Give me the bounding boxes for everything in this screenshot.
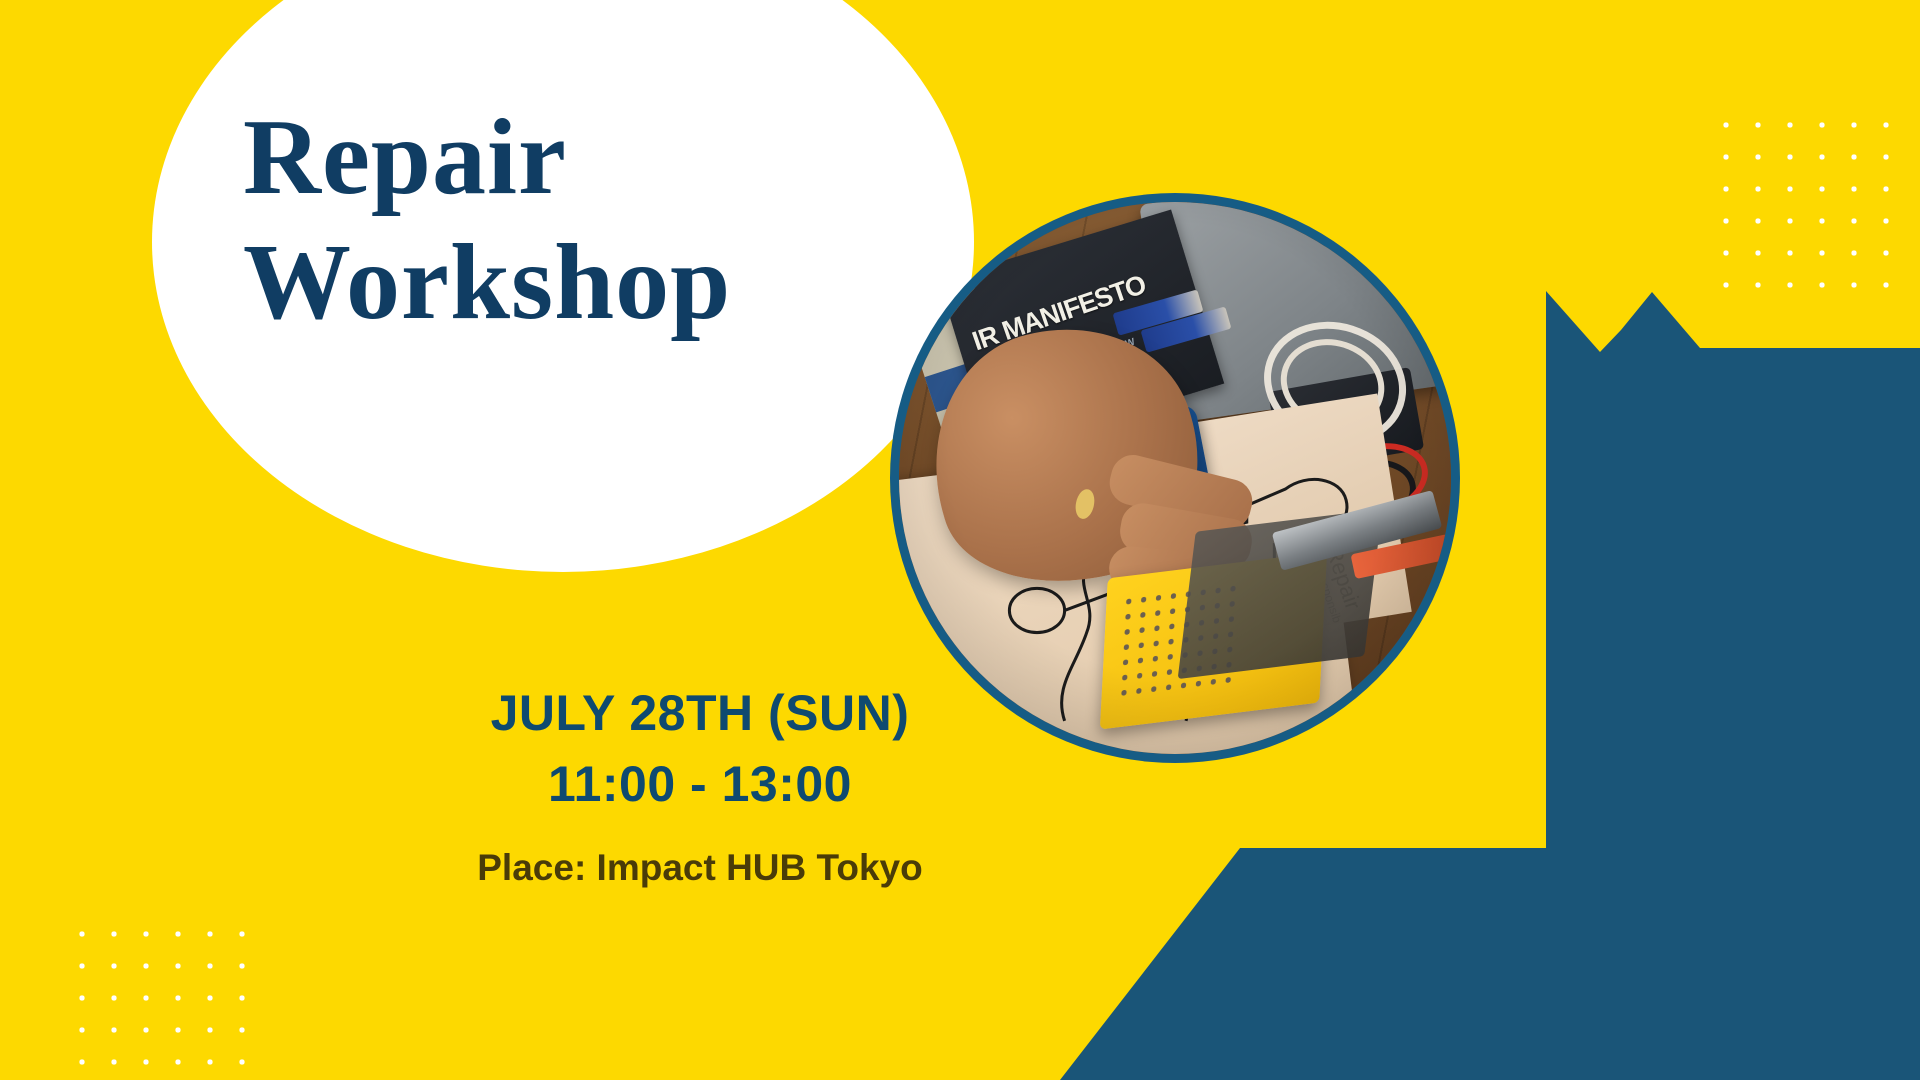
page-title: Repair Workshop — [243, 95, 943, 346]
title-line-1: Repair — [243, 95, 943, 220]
workshop-photo: IR MANIFESTO FIX IT BETTER THAN NEW Repa… — [899, 202, 1451, 754]
event-time: 11:00 - 13:00 — [400, 749, 1000, 820]
event-date: JULY 28TH (SUN) — [400, 678, 1000, 749]
title-line-2: Workshop — [243, 220, 943, 345]
poster-canvas: Repair Workshop JULY 28TH (SUN) 11:00 - … — [0, 0, 1920, 1080]
dot-grid-top-right — [1706, 105, 1902, 301]
event-place: Place: Impact HUB Tokyo — [400, 846, 1000, 890]
event-details: JULY 28TH (SUN) 11:00 - 13:00 Place: Imp… — [400, 678, 1000, 890]
dot-grid-bottom-left — [62, 914, 260, 1076]
photo-vignette — [899, 202, 1451, 754]
